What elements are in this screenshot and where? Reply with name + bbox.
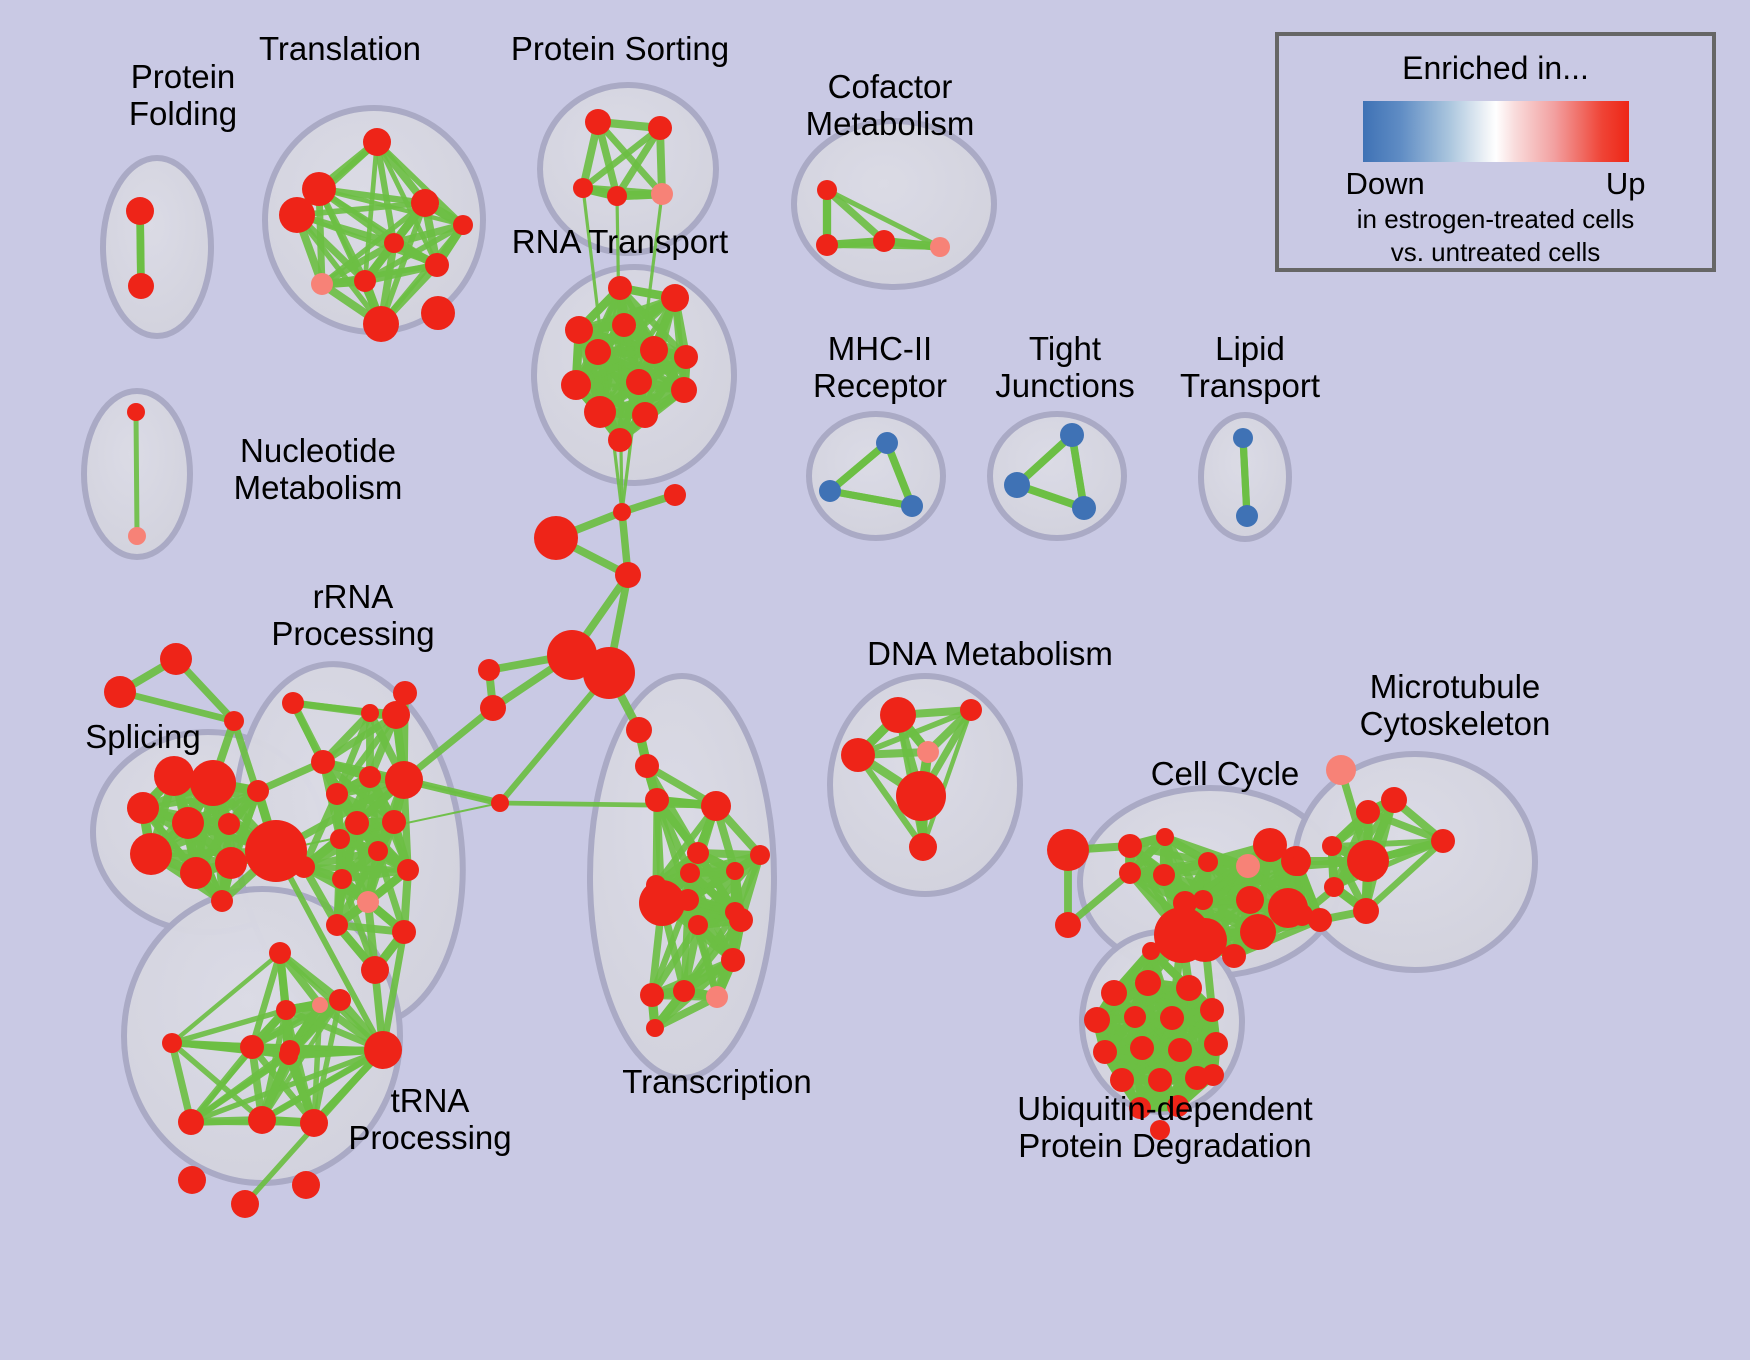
network-node[interactable] xyxy=(1148,1068,1172,1092)
network-node[interactable] xyxy=(1084,1007,1110,1033)
network-node[interactable] xyxy=(1160,1006,1184,1030)
network-node[interactable] xyxy=(613,503,631,521)
network-node[interactable] xyxy=(651,183,673,205)
network-node[interactable] xyxy=(126,197,154,225)
legend-subtitle-line1: in estrogen-treated cells xyxy=(1357,204,1634,235)
network-node[interactable] xyxy=(190,760,236,806)
network-node[interactable] xyxy=(293,856,315,878)
network-node[interactable] xyxy=(561,370,591,400)
network-node[interactable] xyxy=(282,692,304,714)
network-node[interactable] xyxy=(231,1190,259,1218)
network-node[interactable] xyxy=(608,276,632,300)
network-node[interactable] xyxy=(1093,1040,1117,1064)
network-node[interactable] xyxy=(721,948,745,972)
network-node[interactable] xyxy=(361,704,379,722)
network-node[interactable] xyxy=(1236,886,1264,914)
network-node[interactable] xyxy=(726,862,744,880)
network-node[interactable] xyxy=(368,841,388,861)
cluster-ellipse-protein-folding xyxy=(103,158,211,336)
legend-title: Enriched in... xyxy=(1402,50,1589,87)
network-node[interactable] xyxy=(1153,864,1175,886)
network-node[interactable] xyxy=(664,484,686,506)
network-node[interactable] xyxy=(701,791,731,821)
network-node[interactable] xyxy=(453,215,473,235)
network-node[interactable] xyxy=(215,847,247,879)
network-node[interactable] xyxy=(425,253,449,277)
network-node[interactable] xyxy=(876,432,898,454)
network-node[interactable] xyxy=(1047,829,1089,871)
network-node[interactable] xyxy=(1135,970,1161,996)
network-node[interactable] xyxy=(382,701,410,729)
network-node[interactable] xyxy=(1198,852,1218,872)
network-node[interactable] xyxy=(640,336,668,364)
network-node[interactable] xyxy=(311,273,333,295)
network-node[interactable] xyxy=(645,788,669,812)
network-node[interactable] xyxy=(248,1106,276,1134)
network-node[interactable] xyxy=(478,659,500,681)
network-node[interactable] xyxy=(706,986,728,1008)
network-node[interactable] xyxy=(1326,755,1356,785)
network-node[interactable] xyxy=(1431,829,1455,853)
network-node[interactable] xyxy=(584,396,616,428)
network-node[interactable] xyxy=(573,178,593,198)
network-node[interactable] xyxy=(1168,1038,1192,1062)
network-node[interactable] xyxy=(224,711,244,731)
network-node[interactable] xyxy=(639,880,685,926)
network-node[interactable] xyxy=(1324,877,1344,897)
network-node[interactable] xyxy=(1176,975,1202,1001)
network-node[interactable] xyxy=(1289,856,1309,876)
network-node[interactable] xyxy=(896,771,946,821)
network-node[interactable] xyxy=(1236,505,1258,527)
network-node[interactable] xyxy=(411,189,439,217)
network-node[interactable] xyxy=(1233,428,1253,448)
enrichment-map-figure: Protein FoldingTranslationProtein Sortin… xyxy=(0,0,1750,1360)
network-node[interactable] xyxy=(162,1033,182,1053)
network-node[interactable] xyxy=(384,233,404,253)
network-node[interactable] xyxy=(671,377,697,403)
network-node[interactable] xyxy=(280,1047,298,1065)
network-node[interactable] xyxy=(640,983,664,1007)
network-node[interactable] xyxy=(385,761,423,799)
network-node[interactable] xyxy=(364,1031,402,1069)
network-node[interactable] xyxy=(326,783,348,805)
network-node[interactable] xyxy=(1381,787,1407,813)
network-node[interactable] xyxy=(1060,423,1084,447)
network-node[interactable] xyxy=(607,186,627,206)
network-node[interactable] xyxy=(1183,918,1227,962)
network-node[interactable] xyxy=(1240,914,1276,950)
network-node[interactable] xyxy=(127,792,159,824)
network-node[interactable] xyxy=(359,766,381,788)
network-node[interactable] xyxy=(218,813,240,835)
network-node[interactable] xyxy=(329,989,351,1011)
network-node[interactable] xyxy=(211,890,233,912)
network-node[interactable] xyxy=(1055,912,1081,938)
network-node[interactable] xyxy=(615,562,641,588)
network-node[interactable] xyxy=(674,345,698,369)
network-node[interactable] xyxy=(1129,1097,1151,1119)
network-node[interactable] xyxy=(480,695,506,721)
network-node[interactable] xyxy=(688,915,708,935)
network-node[interactable] xyxy=(247,780,269,802)
network-node[interactable] xyxy=(393,681,417,705)
network-node[interactable] xyxy=(1347,840,1389,882)
network-node[interactable] xyxy=(750,845,770,865)
network-node[interactable] xyxy=(130,833,172,875)
network-node[interactable] xyxy=(240,1035,264,1059)
network-node[interactable] xyxy=(626,717,652,743)
network-node[interactable] xyxy=(276,1000,296,1020)
network-node[interactable] xyxy=(172,807,204,839)
network-node[interactable] xyxy=(930,237,950,257)
legend-endpoints: Down Up xyxy=(1346,166,1646,202)
network-node[interactable] xyxy=(363,306,399,342)
network-node[interactable] xyxy=(1291,904,1313,926)
network-node[interactable] xyxy=(160,643,192,675)
network-node[interactable] xyxy=(880,697,916,733)
network-node[interactable] xyxy=(816,234,838,256)
network-node[interactable] xyxy=(817,180,837,200)
network-node[interactable] xyxy=(345,811,369,835)
network-node[interactable] xyxy=(1202,1064,1224,1086)
network-edge xyxy=(500,803,716,806)
network-node[interactable] xyxy=(626,369,652,395)
network-node[interactable] xyxy=(180,857,212,889)
network-node[interactable] xyxy=(1118,834,1142,858)
network-node[interactable] xyxy=(178,1109,204,1135)
network-node[interactable] xyxy=(332,869,352,889)
network-node[interactable] xyxy=(1101,980,1127,1006)
network-node[interactable] xyxy=(819,480,841,502)
network-node[interactable] xyxy=(635,754,659,778)
network-node[interactable] xyxy=(680,863,700,883)
network-node[interactable] xyxy=(1072,496,1096,520)
network-node[interactable] xyxy=(725,902,745,922)
network-node[interactable] xyxy=(178,1166,206,1194)
network-edge xyxy=(1243,438,1247,516)
network-node[interactable] xyxy=(128,273,154,299)
network-node[interactable] xyxy=(1356,800,1380,824)
network-node[interactable] xyxy=(1353,898,1379,924)
cluster-ellipse-mhc-ii-receptor xyxy=(809,414,943,538)
network-node[interactable] xyxy=(1236,854,1260,878)
network-node[interactable] xyxy=(330,829,350,849)
network-node[interactable] xyxy=(104,676,136,708)
network-node[interactable] xyxy=(279,197,315,233)
network-node[interactable] xyxy=(1193,890,1213,910)
network-node[interactable] xyxy=(1222,944,1246,968)
network-node[interactable] xyxy=(534,516,578,560)
network-node[interactable] xyxy=(1167,1095,1189,1117)
network-node[interactable] xyxy=(687,842,709,864)
network-node[interactable] xyxy=(1150,1120,1170,1140)
network-node[interactable] xyxy=(873,230,895,252)
network-node[interactable] xyxy=(311,750,335,774)
network-node[interactable] xyxy=(1200,998,1224,1022)
network-node[interactable] xyxy=(1124,1006,1146,1028)
network-node[interactable] xyxy=(583,647,635,699)
network-node[interactable] xyxy=(960,699,982,721)
network-node[interactable] xyxy=(354,270,376,292)
network-node[interactable] xyxy=(673,980,695,1002)
legend-down-label: Down xyxy=(1346,166,1425,202)
network-node[interactable] xyxy=(901,495,923,517)
network-node[interactable] xyxy=(392,920,416,944)
network-node[interactable] xyxy=(612,313,636,337)
network-node[interactable] xyxy=(154,756,194,796)
network-node[interactable] xyxy=(917,741,939,763)
network-node[interactable] xyxy=(127,403,145,421)
network-edge xyxy=(136,412,137,536)
network-node[interactable] xyxy=(421,296,455,330)
network-node[interactable] xyxy=(292,1171,320,1199)
network-node[interactable] xyxy=(585,339,611,365)
network-node[interactable] xyxy=(1119,862,1141,884)
color-scale-bar xyxy=(1363,101,1629,162)
network-node[interactable] xyxy=(909,833,937,861)
network-node[interactable] xyxy=(300,1109,328,1137)
network-node[interactable] xyxy=(361,956,389,984)
network-node[interactable] xyxy=(585,109,611,135)
network-node[interactable] xyxy=(397,859,419,881)
network-node[interactable] xyxy=(491,794,509,812)
network-node[interactable] xyxy=(269,942,291,964)
network-node[interactable] xyxy=(841,738,875,772)
network-node[interactable] xyxy=(1130,1036,1154,1060)
network-node[interactable] xyxy=(1156,828,1174,846)
network-node[interactable] xyxy=(646,1019,664,1037)
legend-up-label: Up xyxy=(1606,166,1646,202)
network-node[interactable] xyxy=(608,428,632,452)
cluster-ellipse-protein-sorting xyxy=(540,85,716,253)
network-node[interactable] xyxy=(357,891,379,913)
network-node[interactable] xyxy=(312,997,328,1013)
network-node[interactable] xyxy=(1004,472,1030,498)
network-node[interactable] xyxy=(128,527,146,545)
network-node[interactable] xyxy=(1322,836,1342,856)
network-node[interactable] xyxy=(1110,1068,1134,1092)
network-node[interactable] xyxy=(661,284,689,312)
network-node[interactable] xyxy=(565,316,593,344)
legend-subtitle-line2: vs. untreated cells xyxy=(1391,237,1601,268)
network-node[interactable] xyxy=(363,128,391,156)
network-node[interactable] xyxy=(326,914,348,936)
network-node[interactable] xyxy=(382,810,406,834)
network-node[interactable] xyxy=(1204,1032,1228,1056)
legend-panel: Enriched in... Down Up in estrogen-treat… xyxy=(1275,32,1716,272)
network-node[interactable] xyxy=(632,402,658,428)
network-node[interactable] xyxy=(648,116,672,140)
